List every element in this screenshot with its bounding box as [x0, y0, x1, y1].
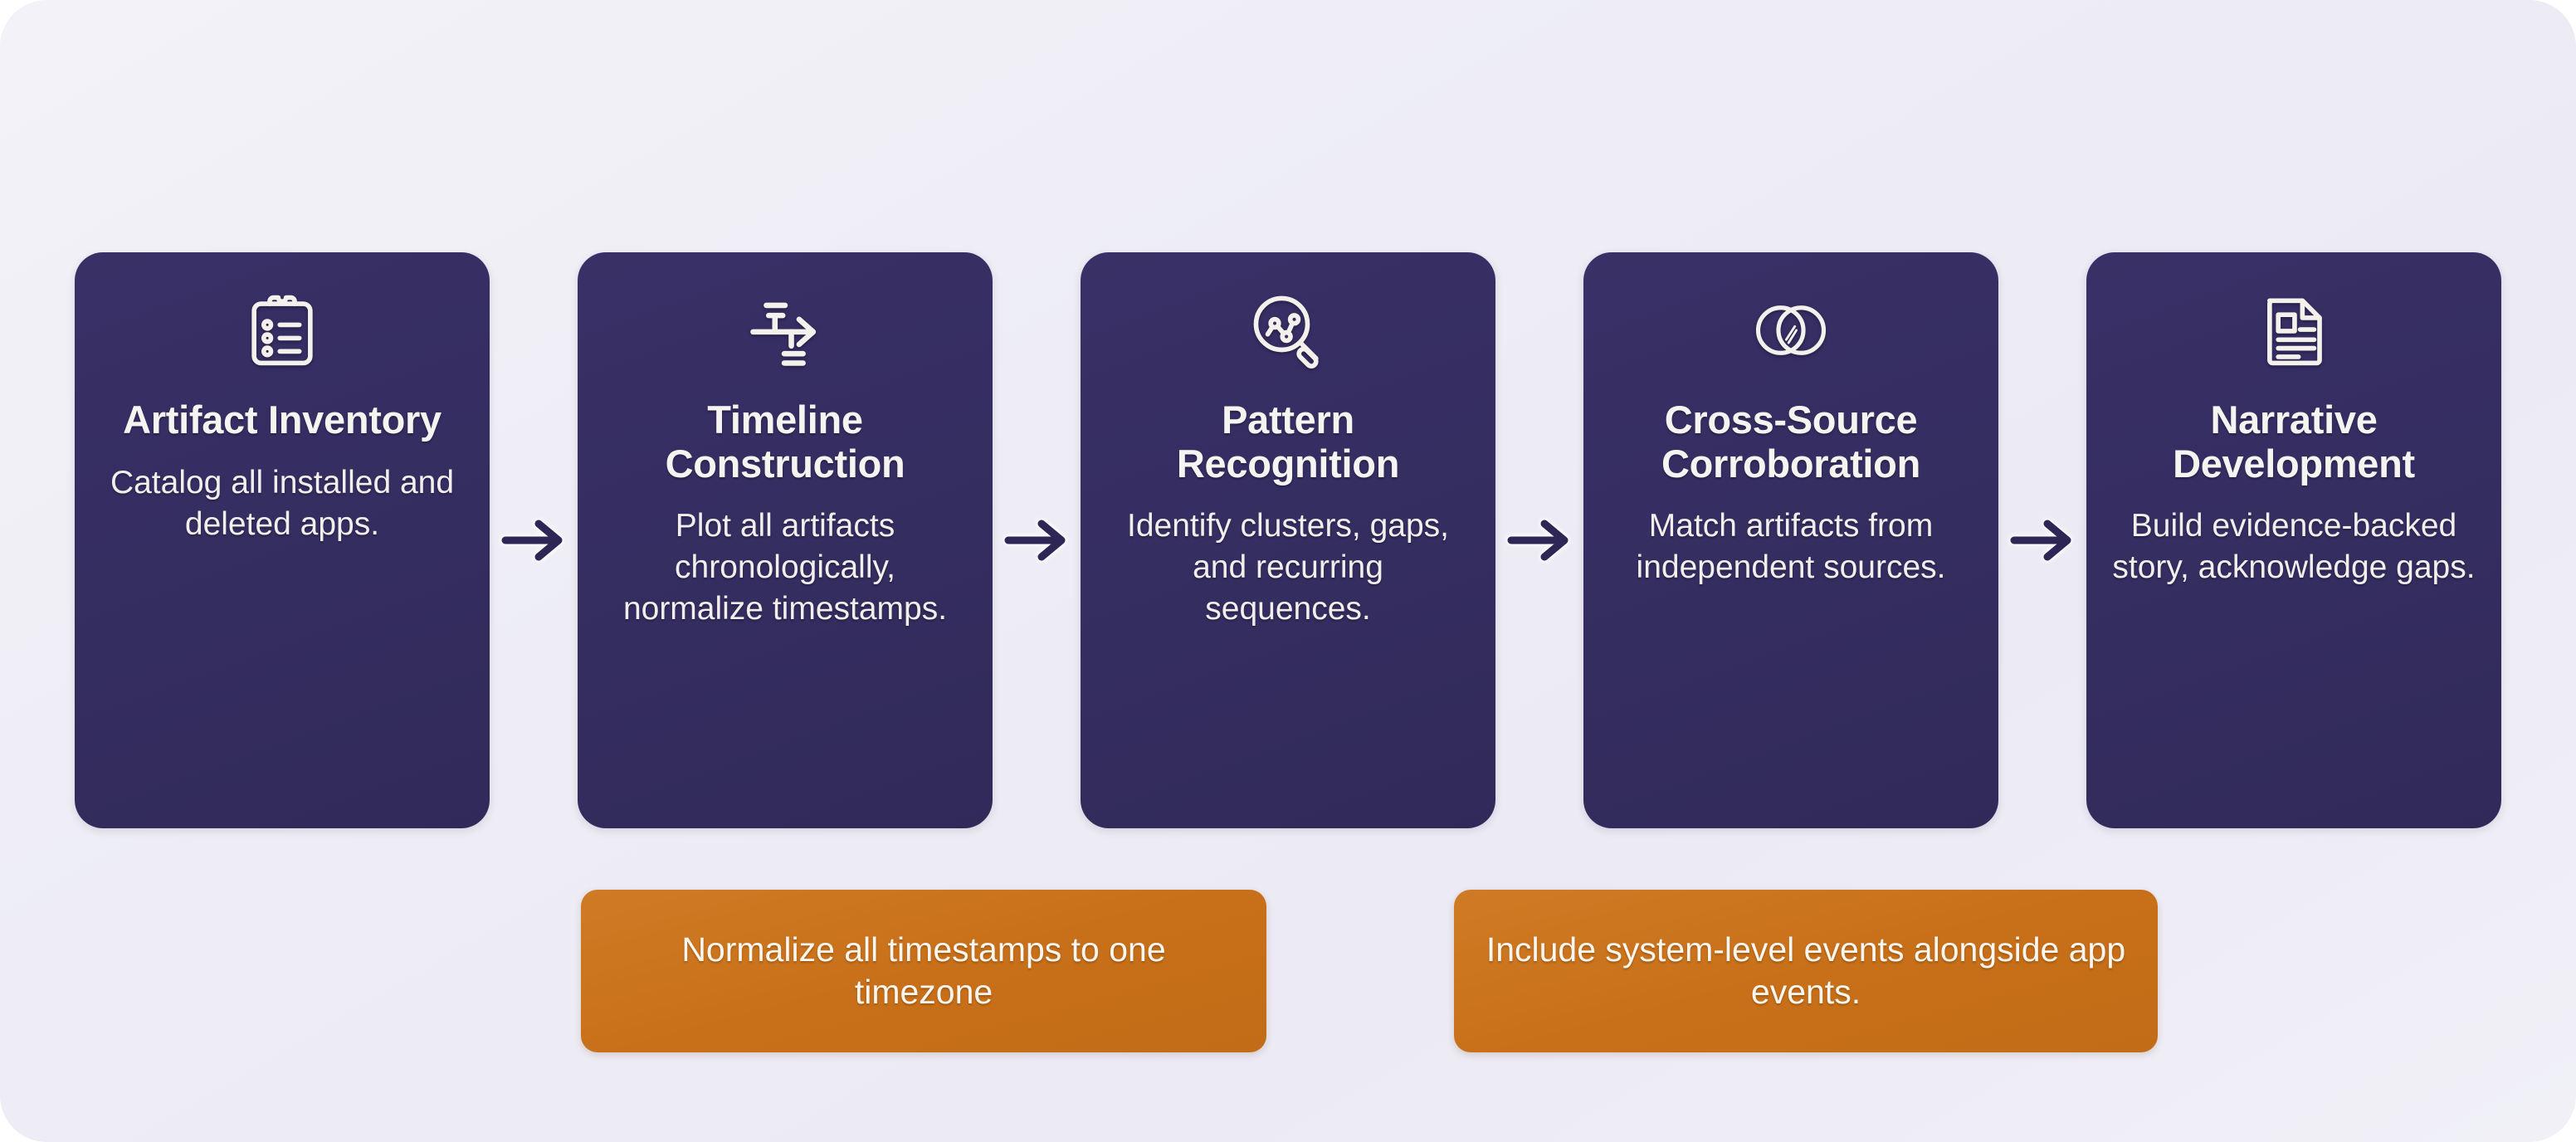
callout-system-level-events[interactable]: Include system-level events alongside ap… [1454, 890, 2158, 1052]
magnifier-chart-icon [1248, 290, 1328, 370]
step-description: Identify clusters, gaps, and recurring s… [1105, 505, 1471, 630]
arrow-right-icon [1495, 252, 1583, 828]
step-card-pattern-recognition[interactable]: Pattern Recognition Identify clusters, g… [1081, 252, 1495, 828]
arrow-right-icon [993, 252, 1081, 828]
step-card-timeline-construction[interactable]: Timeline Construction Plot all artifacts… [578, 252, 993, 828]
callout-normalize-timestamps[interactable]: Normalize all timestamps to one timezone [581, 890, 1266, 1052]
step-title: Pattern Recognition [1105, 398, 1471, 486]
callout-row: Normalize all timestamps to one timezone… [581, 890, 2033, 1052]
timeline-arrow-icon [745, 290, 825, 370]
diagram-canvas: Artifact Inventory Catalog all installed… [0, 0, 2576, 1142]
step-description: Match artifacts from independent sources… [1608, 505, 1973, 588]
clipboard-checklist-icon [242, 290, 322, 370]
step-title: Narrative Development [2111, 398, 2476, 486]
document-page-icon [2254, 290, 2334, 370]
arrow-right-icon [1998, 252, 2086, 828]
step-title: Artifact Inventory [123, 398, 442, 442]
step-description: Catalog all installed and deleted apps. [100, 462, 465, 545]
step-title: Cross-Source Corroboration [1608, 398, 1973, 486]
step-card-narrative-development[interactable]: Narrative Development Build evidence-bac… [2086, 252, 2501, 828]
step-title: Timeline Construction [603, 398, 968, 486]
step-card-artifact-inventory[interactable]: Artifact Inventory Catalog all installed… [75, 252, 490, 828]
step-description: Plot all artifacts chronologically, norm… [603, 505, 968, 630]
process-flow-row: Artifact Inventory Catalog all installed… [75, 252, 2501, 828]
venn-diagram-icon [1751, 290, 1831, 370]
step-card-cross-source-corroboration[interactable]: Cross-Source Corroboration Match artifac… [1583, 252, 1998, 828]
arrow-right-icon [490, 252, 578, 828]
step-description: Build evidence-backed story, acknowledge… [2111, 505, 2476, 588]
